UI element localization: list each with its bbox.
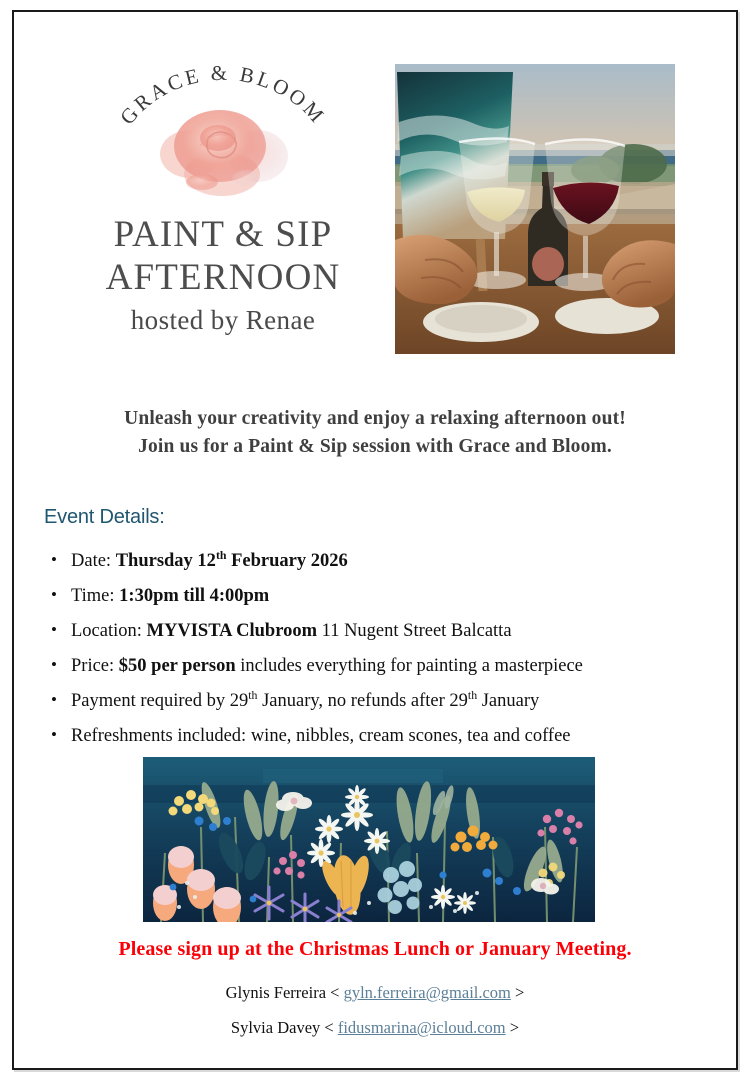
- flyer-page: GRACE & BLOOM: [0, 0, 750, 1082]
- detail-label: Payment required by 29: [71, 691, 248, 711]
- detail-label: Refreshments included: wine, nibbles, cr…: [71, 726, 571, 746]
- detail-label: Time:: [71, 586, 115, 606]
- header: GRACE & BLOOM: [30, 42, 720, 372]
- detail-value-cont: February 2026: [226, 551, 347, 571]
- brand-logo: GRACE & BLOOM: [98, 42, 348, 207]
- list-item: Time: 1:30pm till 4:00pm: [44, 587, 710, 606]
- wildflower-artwork-image: [143, 757, 595, 922]
- bracket-close: >: [515, 983, 524, 1002]
- tagline-line-2: Join us for a Paint & Sip session with G…: [40, 433, 710, 461]
- detail-value-plain: January, no refunds after 29: [257, 691, 467, 711]
- signup-callout: Please sign up at the Christmas Lunch or…: [40, 938, 710, 961]
- brand-column: GRACE & BLOOM: [58, 42, 388, 336]
- bracket-open: <: [324, 1018, 333, 1037]
- event-host: hosted by Renae: [58, 305, 388, 336]
- contact-line-1: Glynis Ferreira < gyln.ferreira@gmail.co…: [40, 983, 710, 1003]
- detail-ordinal-suffix: th: [216, 548, 227, 562]
- wine-toast-photo-image: [395, 64, 675, 354]
- detail-value: $50 per person: [119, 656, 236, 676]
- event-title-line-2: AFTERNOON: [58, 256, 388, 299]
- detail-ordinal-suffix-2: th: [468, 688, 477, 702]
- bracket-open: <: [330, 983, 339, 1002]
- detail-value-plain-2: January: [477, 691, 539, 711]
- tagline-line-1: Unleash your creativity and enjoy a rela…: [40, 405, 710, 433]
- detail-value-plain: 11 Nugent Street Balcatta: [317, 621, 512, 641]
- detail-value-plain: includes everything for painting a maste…: [236, 656, 583, 676]
- contact-email-link[interactable]: fidusmarina@icloud.com: [338, 1018, 506, 1037]
- detail-value: MYVISTA Clubroom: [147, 621, 317, 641]
- title-block: PAINT & SIP AFTERNOON hosted by Renae: [58, 213, 388, 336]
- list-item: Date: Thursday 12th February 2026: [44, 552, 710, 571]
- contact-email-link[interactable]: gyln.ferreira@gmail.com: [344, 983, 511, 1002]
- wine-toast-photo: [395, 64, 675, 354]
- contact-line-2: Sylvia Davey < fidusmarina@icloud.com >: [40, 1018, 710, 1038]
- contact-name: Sylvia Davey: [231, 1018, 320, 1037]
- detail-label: Location:: [71, 621, 142, 641]
- list-item: Location: MYVISTA Clubroom 11 Nugent Str…: [44, 622, 710, 641]
- bracket-close: >: [510, 1018, 519, 1037]
- list-item: Payment required by 29th January, no ref…: [44, 692, 710, 711]
- event-title-line-1: PAINT & SIP: [58, 213, 388, 256]
- event-details-list: Date: Thursday 12th February 2026 Time: …: [44, 552, 710, 762]
- contact-name: Glynis Ferreira: [226, 983, 326, 1002]
- rose-icon: [150, 94, 300, 204]
- event-details-heading: Event Details:: [44, 506, 165, 529]
- detail-label: Date:: [71, 551, 111, 571]
- detail-value: Thursday 12: [116, 551, 216, 571]
- detail-value: 1:30pm till 4:00pm: [119, 586, 269, 606]
- wildflower-artwork: [143, 757, 595, 922]
- tagline: Unleash your creativity and enjoy a rela…: [40, 405, 710, 460]
- list-item: Price: $50 per person includes everythin…: [44, 657, 710, 676]
- list-item: Refreshments included: wine, nibbles, cr…: [44, 727, 710, 746]
- detail-label: Price:: [71, 656, 114, 676]
